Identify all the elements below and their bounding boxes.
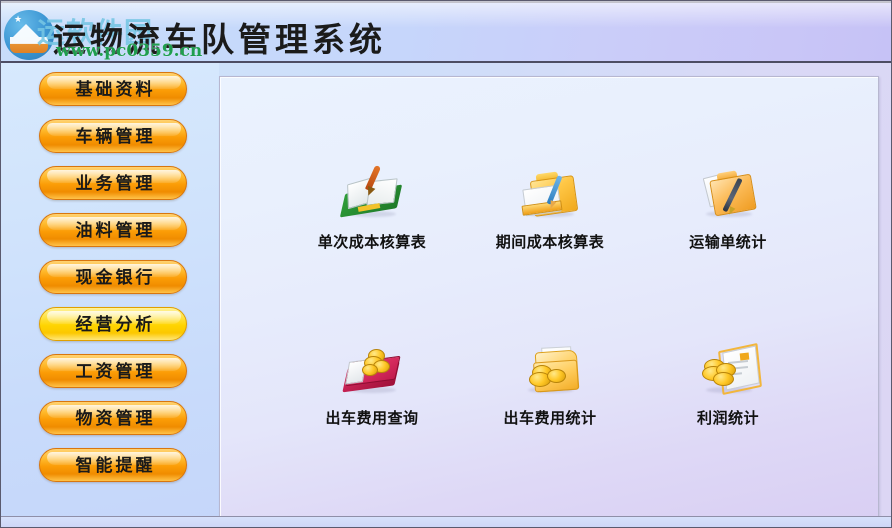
module-label: 利润统计 — [640, 407, 816, 428]
yellow-folder-coins-icon — [518, 339, 582, 401]
sidebar-item-salary-management[interactable]: 工资管理 — [39, 354, 187, 388]
sidebar: 基础资料 车辆管理 业务管理 油料管理 现金银行 经营分析 工资管理 — [1, 63, 219, 528]
sidebar-item-basic-data[interactable]: 基础资料 — [39, 72, 187, 106]
module-dispatch-cost-query[interactable]: 出车费用查询 — [284, 339, 460, 449]
sidebar-item-material-management[interactable]: 物资管理 — [39, 401, 187, 435]
module-label: 运输单统计 — [640, 231, 816, 252]
sidebar-item-label: 基础资料 — [40, 73, 188, 107]
module-icon-grid: 单次成本核算表 期间成本核算表 — [220, 77, 879, 517]
sidebar-item-label: 智能提醒 — [40, 449, 188, 483]
module-single-cost-sheet[interactable]: 单次成本核算表 — [284, 163, 460, 273]
logo-roof — [13, 24, 39, 37]
sidebar-item-label: 经营分析 — [40, 308, 188, 342]
sidebar-item-label: 物资管理 — [40, 402, 188, 436]
sidebar-item-label: 油料管理 — [40, 214, 188, 248]
sidebar-item-label: 工资管理 — [40, 355, 188, 389]
module-label: 期间成本核算表 — [462, 231, 638, 252]
module-label: 出车费用查询 — [284, 407, 460, 428]
sidebar-item-vehicle-management[interactable]: 车辆管理 — [39, 119, 187, 153]
orange-folder-pen-icon — [696, 163, 760, 225]
coins-document-icon — [696, 339, 760, 401]
sidebar-item-label: 车辆管理 — [40, 120, 188, 154]
app-header: ★ 运软件园 运物流车队管理系统 www.pc0359.cn — [1, 1, 892, 63]
sidebar-item-label: 业务管理 — [40, 167, 188, 201]
sidebar-item-smart-reminder[interactable]: 智能提醒 — [39, 448, 187, 482]
red-book-coins-icon — [340, 339, 404, 401]
content-panel: 单次成本核算表 期间成本核算表 — [219, 76, 879, 517]
yellow-folder-notepad-pencil-icon — [518, 163, 582, 225]
module-dispatch-cost-stats[interactable]: 出车费用统计 — [462, 339, 638, 449]
coin — [713, 372, 734, 386]
watermark-url: www.pc0359.cn — [56, 41, 202, 61]
sidebar-item-fuel-management[interactable]: 油料管理 — [39, 213, 187, 247]
module-label: 出车费用统计 — [462, 407, 638, 428]
header-top-line — [1, 1, 892, 3]
application-window: ★ 运软件园 运物流车队管理系统 www.pc0359.cn 基础资料 车辆管理… — [0, 0, 892, 528]
sidebar-item-business-analysis[interactable]: 经营分析 — [39, 307, 187, 341]
module-label: 单次成本核算表 — [284, 231, 460, 252]
sidebar-item-label: 现金银行 — [40, 261, 188, 295]
module-transport-order-stats[interactable]: 运输单统计 — [640, 163, 816, 273]
sidebar-item-cash-bank[interactable]: 现金银行 — [39, 260, 187, 294]
sidebar-item-business-management[interactable]: 业务管理 — [39, 166, 187, 200]
module-profit-stats[interactable]: 利润统计 — [640, 339, 816, 449]
green-book-quill-icon — [340, 163, 404, 225]
status-bar — [1, 516, 892, 527]
module-period-cost-sheet[interactable]: 期间成本核算表 — [462, 163, 638, 273]
coin — [362, 364, 378, 376]
coin — [547, 369, 566, 383]
